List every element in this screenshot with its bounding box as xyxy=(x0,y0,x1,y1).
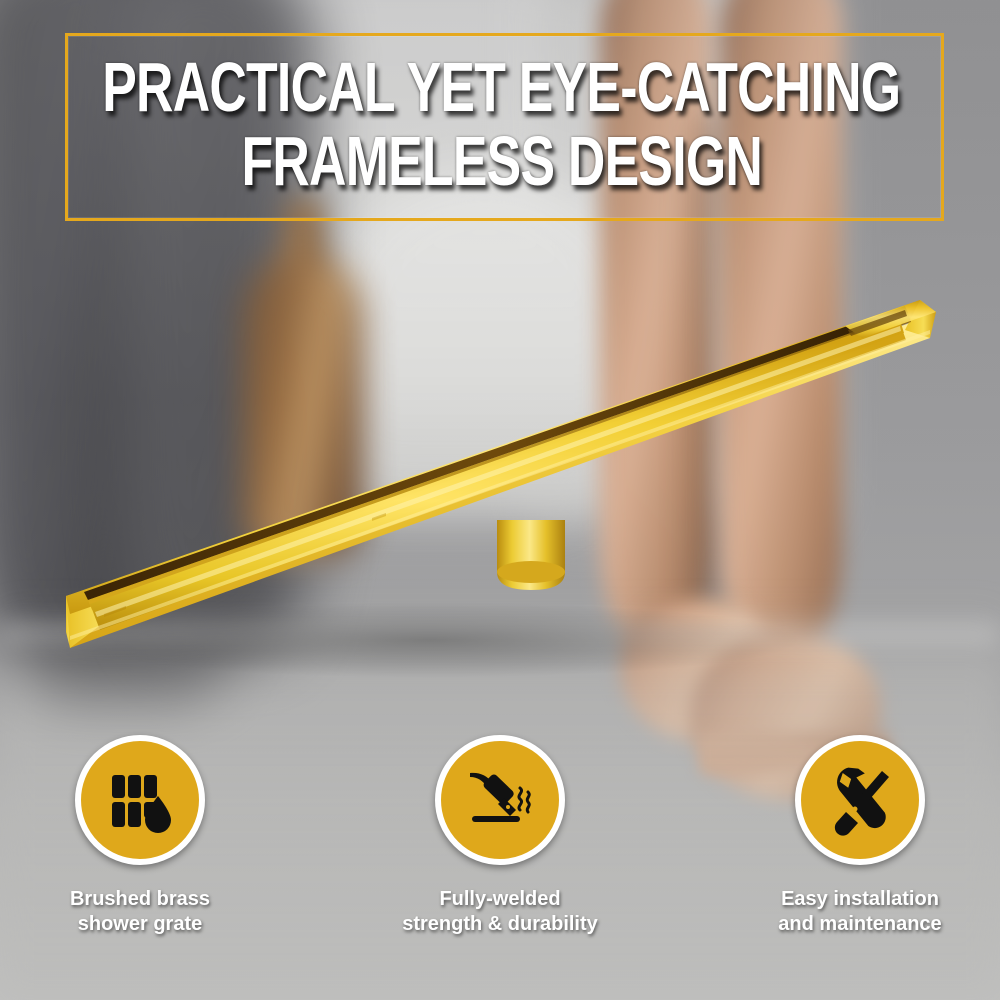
feature-caption-2-line-1: Fully-welded xyxy=(350,887,650,912)
feature-caption-3-line-2: and maintenance xyxy=(710,912,1000,937)
feature-caption-2-line-2: strength & durability xyxy=(350,912,650,937)
feature-item-brushed-brass: Brushed brass shower grate xyxy=(0,735,290,937)
feature-badge-3 xyxy=(795,735,925,865)
feature-list: Brushed brass shower grate xyxy=(0,735,1000,965)
feature-caption-1-line-1: Brushed brass xyxy=(0,887,290,912)
feature-caption-3: Easy installation and maintenance xyxy=(710,887,1000,937)
marketing-image: PRACTICAL YET EYE-CATCHING FRAMELESS DES… xyxy=(0,0,1000,1000)
wrench-screwdriver-icon xyxy=(822,762,898,838)
feature-badge-1 xyxy=(75,735,205,865)
shower-grate-droplet-icon xyxy=(102,762,178,838)
feature-caption-3-line-1: Easy installation xyxy=(710,887,1000,912)
feature-caption-1-line-2: shower grate xyxy=(0,912,290,937)
feature-badge-2 xyxy=(435,735,565,865)
feature-item-easy-installation: Easy installation and maintenance xyxy=(710,735,1000,937)
headline-block: PRACTICAL YET EYE-CATCHING FRAMELESS DES… xyxy=(65,33,938,215)
headline-line-2: FRAMELESS DESIGN xyxy=(241,124,762,198)
headline-line-1: PRACTICAL YET EYE-CATCHING xyxy=(102,50,900,124)
feature-caption-1: Brushed brass shower grate xyxy=(0,887,290,937)
feature-caption-2: Fully-welded strength & durability xyxy=(350,887,650,937)
welding-torch-icon xyxy=(462,762,538,838)
feature-item-fully-welded: Fully-welded strength & durability xyxy=(350,735,650,937)
